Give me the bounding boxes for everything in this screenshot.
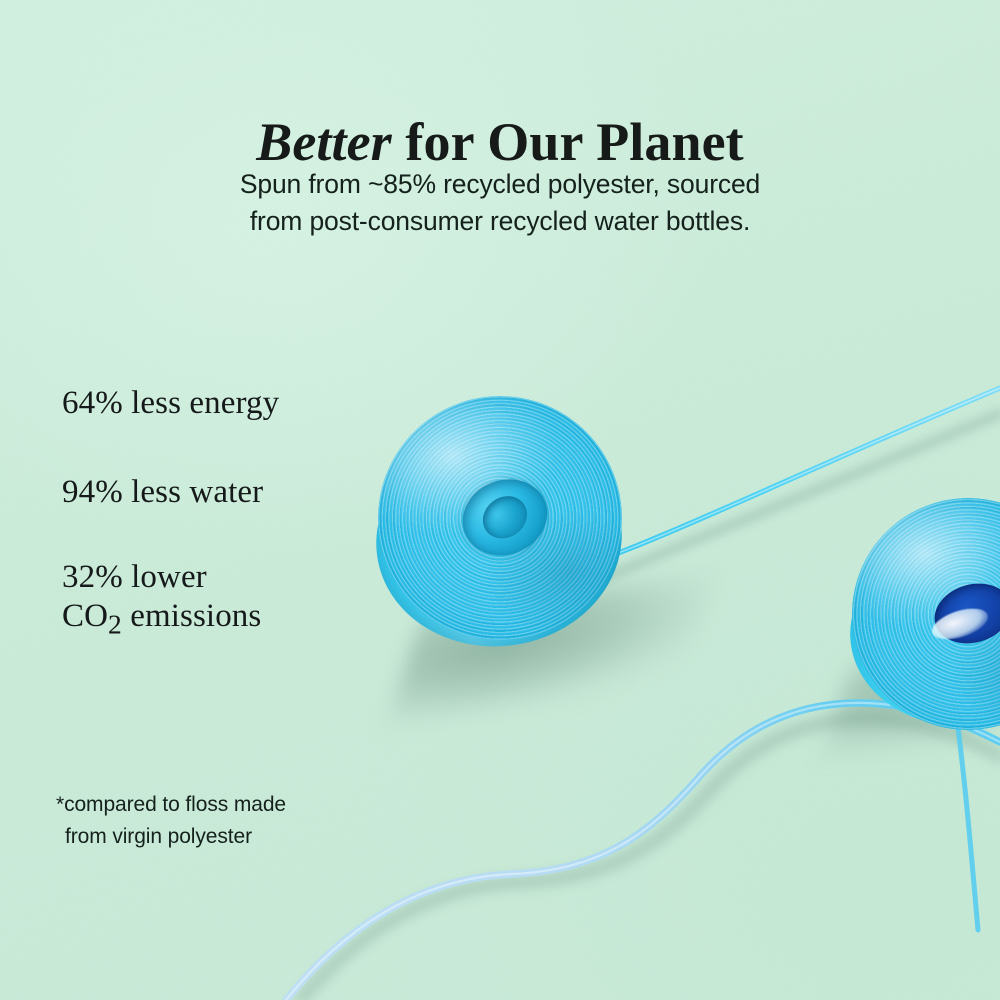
subtitle-line-2: from post-consumer recycled water bottle… [0, 203, 1000, 240]
footnote: *compared to floss made from virgin poly… [56, 789, 286, 853]
stat-energy: 64% less energy [62, 384, 279, 423]
footnote-line-1: *compared to floss made [56, 789, 286, 821]
stat-co2: 32% lowerCO2 emissions [62, 558, 279, 640]
stat-co2-suffix: emissions [122, 598, 261, 634]
subtitle: Spun from ~85% recycled polyester, sourc… [0, 166, 1000, 239]
footnote-line-2: from virgin polyester [56, 821, 286, 853]
stat-co2-subscript: 2 [108, 608, 122, 639]
stat-list: 64% less energy 94% less water 32% lower… [62, 384, 279, 641]
stat-water: 94% less water [62, 473, 279, 512]
stat-co2-prefix: CO [62, 598, 108, 634]
headline-rest: for Our Planet [392, 112, 744, 172]
page-title: Better for Our Planet [0, 114, 1000, 170]
subtitle-line-1: Spun from ~85% recycled polyester, sourc… [0, 166, 1000, 203]
stat-co2-line-1: 32% lower [62, 559, 207, 595]
promo-graphic: Better for Our Planet Spun from ~85% rec… [0, 0, 1000, 1000]
text-content: Better for Our Planet Spun from ~85% rec… [0, 0, 1000, 1000]
headline-emphasis: Better [256, 112, 392, 172]
